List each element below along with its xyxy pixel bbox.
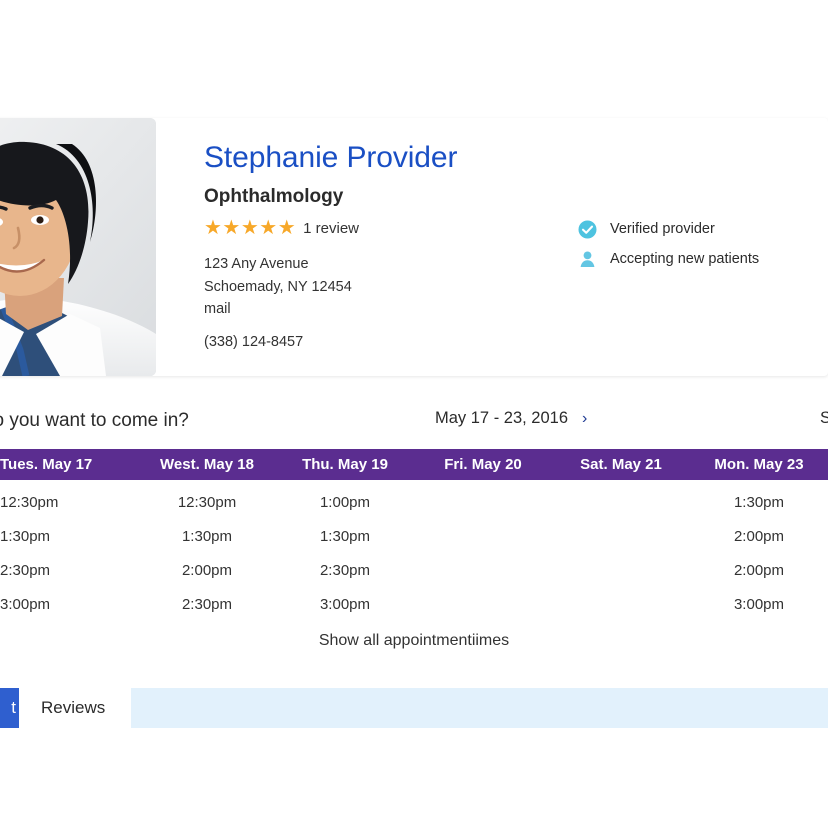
appointment-slot[interactable]: 1:30pm: [690, 486, 828, 520]
provider-badges: Verified provider Accepting new patients: [576, 214, 759, 274]
appointment-slot[interactable]: 3:00pm: [0, 588, 138, 622]
address-line-3: mail: [204, 298, 604, 321]
week-navigation: May 17 - 23, 2016 ›: [435, 409, 587, 428]
provider-address: 123 Any Avenue Schoemady, NY 12454 mail: [204, 253, 604, 321]
provider-phone[interactable]: (338) 124-8457: [204, 334, 604, 350]
appointment-slot[interactable]: 2:30pm: [138, 588, 276, 622]
day-header-row: Tues. May 17 West. May 18 Thu. May 19 Fr…: [0, 449, 828, 480]
appointment-slot-empty: [414, 486, 552, 520]
day-header-cell[interactable]: Thu. May 19: [276, 449, 414, 480]
appointment-slot[interactable]: 3:00pm: [690, 588, 828, 622]
verified-check-icon: [576, 218, 598, 240]
appointment-slot-empty: [552, 588, 690, 622]
day-header-cell[interactable]: West. May 18: [138, 449, 276, 480]
day-header-cell[interactable]: Fri. May 20: [414, 449, 552, 480]
address-line-2: Schoemady, NY 12454: [204, 276, 604, 299]
scheduler-header: When do you want to come in? May 17 - 23…: [0, 396, 828, 448]
appointment-slot-empty: [414, 520, 552, 554]
appointment-slot-empty: [552, 486, 690, 520]
tab-panel: [131, 688, 828, 728]
appointment-slot[interactable]: 12:30pm: [138, 486, 276, 520]
appointment-slot[interactable]: 1:00pm: [276, 486, 414, 520]
star-rating-icon: ★★★★★: [204, 218, 296, 238]
appointment-slot[interactable]: 1:30pm: [0, 520, 138, 554]
day-header-cell[interactable]: Tues. May 17: [0, 449, 138, 480]
chevron-right-icon[interactable]: ›: [582, 410, 587, 428]
appointment-slot[interactable]: 2:30pm: [0, 554, 138, 588]
right-edge-cut-label: Show: [820, 409, 828, 428]
badge-verified-label: Verified provider: [610, 221, 715, 237]
provider-name[interactable]: Stephanie Provider: [204, 140, 604, 176]
slot-column: 1:30pm 2:00pm 2:00pm 3:00pm: [690, 486, 828, 622]
appointment-slot[interactable]: 2:30pm: [276, 554, 414, 588]
slot-column: 12:30pm 1:30pm 2:30pm 3:00pm: [0, 486, 138, 622]
appointment-slot[interactable]: 2:00pm: [690, 554, 828, 588]
badge-verified-provider: Verified provider: [576, 214, 759, 244]
appointment-slot[interactable]: 1:30pm: [276, 520, 414, 554]
slot-column: 1:00pm 1:30pm 2:30pm 3:00pm: [276, 486, 414, 622]
scheduler-question: When do you want to come in?: [0, 408, 189, 434]
provider-info: Stephanie Provider Ophthalmology ★★★★★ 1…: [204, 140, 604, 350]
day-header-cell[interactable]: Sat. May 21: [552, 449, 690, 480]
appointment-slot-empty: [552, 520, 690, 554]
tab-active[interactable]: t: [0, 688, 19, 728]
provider-headshot-image: [0, 118, 156, 376]
week-range-label: May 17 - 23, 2016: [435, 409, 568, 428]
appointment-slot[interactable]: 1:30pm: [138, 520, 276, 554]
address-line-1: 123 Any Avenue: [204, 253, 604, 276]
review-count[interactable]: 1 review: [303, 220, 359, 237]
rating-row: ★★★★★ 1 review: [204, 217, 604, 239]
appointment-slot[interactable]: 2:00pm: [690, 520, 828, 554]
tab-reviews[interactable]: Reviews: [19, 688, 127, 728]
tabs-row: t Reviews: [0, 688, 828, 728]
provider-card: Stephanie Provider Ophthalmology ★★★★★ 1…: [0, 118, 828, 376]
appointment-slot[interactable]: 2:00pm: [138, 554, 276, 588]
badge-accepting-patients: Accepting new patients: [576, 244, 759, 274]
appointment-slot-empty: [552, 554, 690, 588]
appointment-slot[interactable]: 12:30pm: [0, 486, 138, 520]
provider-photo: [0, 118, 156, 376]
person-icon: [576, 248, 598, 270]
appointment-slot-empty: [414, 588, 552, 622]
slot-column: [414, 486, 552, 622]
appointment-slots-grid: 12:30pm 1:30pm 2:30pm 3:00pm 12:30pm 1:3…: [0, 486, 828, 622]
badge-accepting-label: Accepting new patients: [610, 251, 759, 267]
appointment-slot-empty: [414, 554, 552, 588]
slot-column: [552, 486, 690, 622]
slot-column: 12:30pm 1:30pm 2:00pm 2:30pm: [138, 486, 276, 622]
show-all-appointment-times-link[interactable]: Show all appointmentiimes: [0, 632, 828, 650]
day-header-cell[interactable]: Mon. May 23: [690, 449, 828, 480]
provider-specialty: Ophthalmology: [204, 185, 604, 209]
appointment-slot[interactable]: 3:00pm: [276, 588, 414, 622]
